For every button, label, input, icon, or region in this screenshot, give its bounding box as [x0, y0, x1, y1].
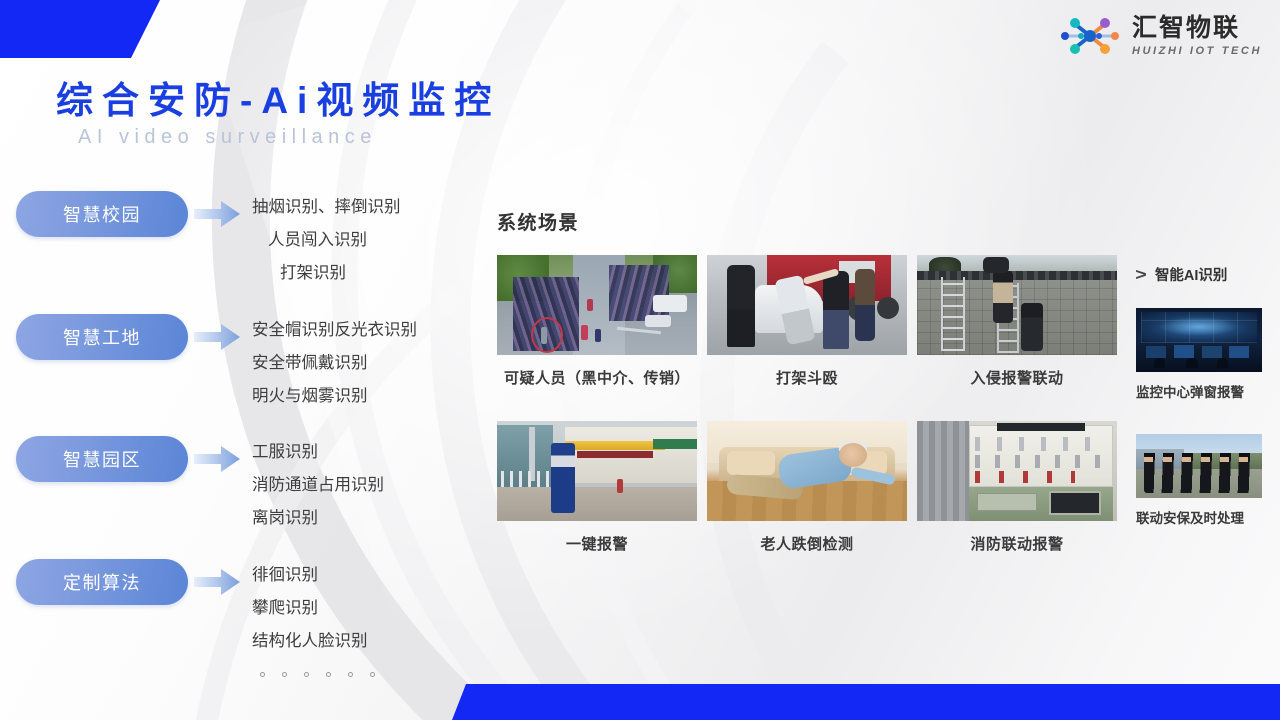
list-item: 离岗识别 [252, 502, 384, 535]
scene-caption-4: 一键报警 [497, 533, 697, 554]
ai-tile-2[interactable]: 联动安保及时处理 [1136, 434, 1262, 527]
right-arrow-icon [194, 569, 240, 595]
right-arrow-icon [194, 201, 240, 227]
scene-tile-5[interactable]: 老人跌倒检测 [707, 421, 907, 554]
scene-image-1 [497, 255, 697, 355]
scene-tile-2[interactable]: 打架斗殴 [707, 255, 907, 388]
page-subtitle: AI video surveillance [78, 126, 377, 149]
scene-image-5 [707, 421, 907, 521]
brand-name-cn: 汇智物联 [1132, 16, 1262, 41]
scene-image-6 [917, 421, 1117, 521]
category-4-items: 徘徊识别 攀爬识别 结构化人脸识别 [252, 559, 368, 658]
more-items-dots [260, 672, 375, 677]
scene-tile-3[interactable]: 入侵报警联动 [917, 255, 1117, 388]
bottom-blue-bar [452, 684, 1280, 720]
chevron-right-icon: > [1135, 265, 1146, 285]
dot-icon [348, 672, 353, 677]
category-arrow-3 [188, 436, 246, 482]
scene-image-2 [707, 255, 907, 355]
scene-image-4 [497, 421, 697, 521]
dot-icon [282, 672, 287, 677]
scene-caption-6: 消防联动报警 [917, 533, 1117, 554]
list-item: 明火与烟雾识别 [252, 380, 417, 413]
page-title: 综合安防-Ai视频监控 [56, 70, 500, 124]
photo-security-guards [1136, 434, 1262, 498]
category-arrow-4 [188, 559, 246, 605]
ai-caption-1: 监控中心弹窗报警 [1136, 381, 1262, 401]
category-2-items: 安全帽识别反光衣识别 安全带佩戴识别 明火与烟雾识别 [252, 314, 417, 413]
photo-suspicious-persons [497, 255, 697, 355]
scenes-title: 系统场景 [497, 208, 579, 235]
category-pill-3[interactable]: 智慧园区 [16, 436, 188, 482]
scene-tile-4[interactable]: 一键报警 [497, 421, 697, 554]
category-pill-4-label: 定制算法 [63, 569, 141, 595]
list-item: 消防通道占用识别 [252, 469, 384, 502]
scene-caption-3: 入侵报警联动 [917, 367, 1117, 388]
molecule-network-icon [1057, 14, 1123, 58]
dot-icon [326, 672, 331, 677]
scene-caption-1: 可疑人员（黑中介、传销） [497, 367, 697, 388]
scene-caption-2: 打架斗殴 [707, 367, 907, 388]
category-row-2: 智慧工地 安全帽识别反光衣识别 安全带佩戴识别 明火与烟雾识别 [16, 314, 417, 413]
category-row-1: 智慧校园 抽烟识别、摔倒识别 人员闯入识别 打架识别 [16, 191, 401, 290]
right-arrow-icon [194, 446, 240, 472]
scene-image-3 [917, 255, 1117, 355]
category-row-3: 智慧园区 工服识别 消防通道占用识别 离岗识别 [16, 436, 384, 535]
ai-tile-1[interactable]: 监控中心弹窗报警 [1136, 308, 1262, 401]
list-item: 攀爬识别 [252, 592, 368, 625]
ai-image-2 [1136, 434, 1262, 498]
photo-street-fight [707, 255, 907, 355]
photo-wall-intrusion [917, 255, 1117, 355]
category-pill-3-label: 智慧园区 [63, 446, 141, 472]
category-pill-4[interactable]: 定制算法 [16, 559, 188, 605]
category-pill-1-label: 智慧校园 [63, 201, 141, 227]
brand-logo: 汇智物联 HUIZHI IOT TECH [1057, 14, 1262, 58]
list-item: 打架识别 [252, 257, 401, 290]
list-item: 抽烟识别、摔倒识别 [252, 191, 401, 224]
ai-column-heading: > 智能AI识别 [1136, 264, 1227, 285]
ai-column-heading-label: 智能AI识别 [1155, 264, 1228, 285]
list-item: 徘徊识别 [252, 559, 368, 592]
brand-logo-text: 汇智物联 HUIZHI IOT TECH [1132, 16, 1262, 57]
category-3-items: 工服识别 消防通道占用识别 离岗识别 [252, 436, 384, 535]
category-pill-2-label: 智慧工地 [63, 324, 141, 350]
brand-name-en: HUIZHI IOT TECH [1132, 46, 1262, 57]
list-item: 安全帽识别反光衣识别 [252, 314, 417, 347]
photo-one-key-alarm-kiosk [497, 421, 697, 521]
photo-monitoring-center [1136, 308, 1262, 372]
photo-elderly-fall [707, 421, 907, 521]
category-pill-1[interactable]: 智慧校园 [16, 191, 188, 237]
scene-caption-5: 老人跌倒检测 [707, 533, 907, 554]
scene-tile-6[interactable]: 消防联动报警 [917, 421, 1117, 554]
dot-icon [370, 672, 375, 677]
category-row-4: 定制算法 徘徊识别 攀爬识别 结构化人脸识别 [16, 559, 368, 658]
photo-fire-control-panel [917, 421, 1117, 521]
list-item: 结构化人脸识别 [252, 625, 368, 658]
ai-image-1 [1136, 308, 1262, 372]
ai-caption-2: 联动安保及时处理 [1136, 507, 1262, 527]
category-1-items: 抽烟识别、摔倒识别 人员闯入识别 打架识别 [252, 191, 401, 290]
list-item: 安全带佩戴识别 [252, 347, 417, 380]
dot-icon [304, 672, 309, 677]
right-arrow-icon [194, 324, 240, 350]
slide-root: 汇智物联 HUIZHI IOT TECH 综合安防-Ai视频监控 AI vide… [0, 0, 1280, 720]
scene-tile-1[interactable]: 可疑人员（黑中介、传销） [497, 255, 697, 388]
list-item: 工服识别 [252, 436, 384, 469]
category-arrow-2 [188, 314, 246, 360]
list-item: 人员闯入识别 [252, 224, 401, 257]
category-pill-2[interactable]: 智慧工地 [16, 314, 188, 360]
dot-icon [260, 672, 265, 677]
category-arrow-1 [188, 191, 246, 237]
